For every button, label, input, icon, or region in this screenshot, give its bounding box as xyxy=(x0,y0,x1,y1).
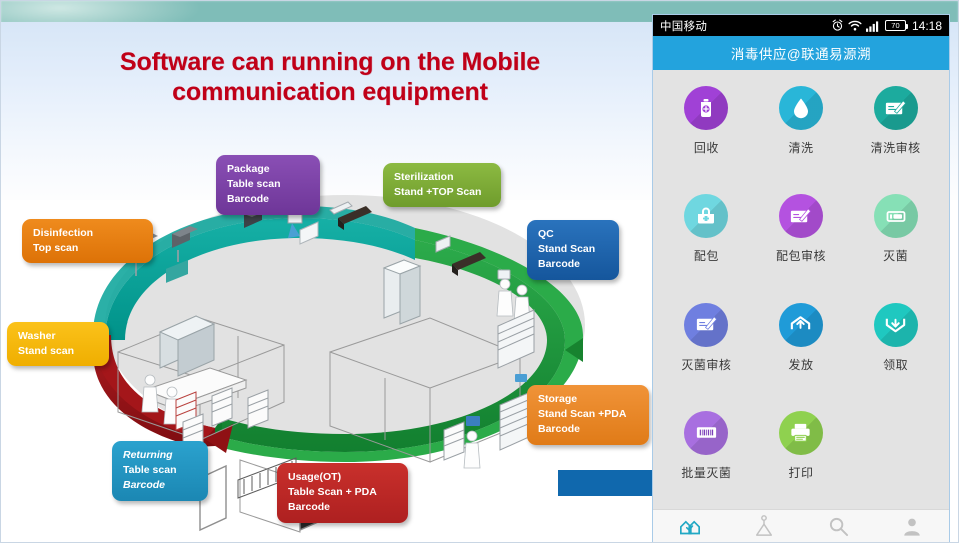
callout-washer-line-1: Stand scan xyxy=(18,344,98,359)
callout-usage-line-1: Table Scan + PDA xyxy=(288,485,397,500)
carrier-label: 中国移动 xyxy=(660,18,707,34)
tab-search[interactable] xyxy=(801,510,875,542)
app-icon-grid: 回收 清洗 xyxy=(653,70,949,511)
clipboard-pen-icon xyxy=(779,194,823,238)
clipboard-pen-icon xyxy=(874,86,918,130)
callout-returning-line-0: Returning xyxy=(123,448,197,463)
phone-status-bar: 中国移动 70 xyxy=(653,15,949,36)
funnel-icon xyxy=(754,515,774,537)
printer-icon xyxy=(779,411,823,455)
water-drop-icon xyxy=(779,86,823,130)
callout-returning-line-1: Table scan xyxy=(123,463,197,478)
wifi-icon xyxy=(848,20,862,32)
app-tile-sterilize-audit[interactable]: 灭菌审核 xyxy=(659,295,754,403)
callout-returning: Returning Table scan Barcode xyxy=(112,441,208,501)
app-tile-package[interactable]: 配包 xyxy=(659,186,754,294)
tab-funnel[interactable] xyxy=(727,510,801,542)
callout-disinfection-line-0: Disinfection xyxy=(33,226,142,241)
barcode-card-icon xyxy=(684,411,728,455)
clipboard-pen-icon xyxy=(684,303,728,347)
callout-package-line-0: Package xyxy=(227,162,309,177)
phone-tab-bar xyxy=(653,509,949,542)
app-label: 配包 xyxy=(694,247,719,264)
page-title: Software can running on the Mobile commu… xyxy=(20,48,640,107)
sterilizer-icon xyxy=(874,194,918,238)
callout-sterilization: Sterilization Stand +TOP Scan xyxy=(383,163,501,207)
callout-usage: Usage(OT) Table Scan + PDA Barcode xyxy=(277,463,408,523)
callout-qc-line-1: Stand Scan xyxy=(538,242,608,257)
app-label: 领取 xyxy=(883,356,908,373)
app-tile-wash-audit[interactable]: 清洗审核 xyxy=(848,78,943,186)
tab-home[interactable] xyxy=(653,510,727,542)
recycle-bin-icon xyxy=(684,86,728,130)
callout-washer-line-0: Washer xyxy=(18,329,98,344)
app-title: 消毒供应@联通易源溯 xyxy=(731,43,871,63)
callout-package-line-2: Barcode xyxy=(227,192,309,207)
app-tile-print[interactable]: 打印 xyxy=(754,403,849,511)
app-tile-batch-sterilize[interactable]: 批量灭菌 xyxy=(659,403,754,511)
callout-usage-line-2: Barcode xyxy=(288,500,397,515)
app-label: 灭菌 xyxy=(883,247,908,264)
app-tile-sterilize[interactable]: 灭菌 xyxy=(848,186,943,294)
title-line-2: communication equipment xyxy=(172,78,488,106)
callout-sterilization-line-1: Stand +TOP Scan xyxy=(394,185,490,200)
app-label: 打印 xyxy=(788,464,813,481)
status-clock: 14:18 xyxy=(912,19,942,33)
callout-storage-line-2: Barcode xyxy=(538,422,638,437)
app-tile-package-audit[interactable]: 配包审核 xyxy=(754,186,849,294)
app-tile-recycle[interactable]: 回收 xyxy=(659,78,754,186)
callout-package: Package Table scan Barcode xyxy=(216,155,320,215)
battery-icon: 70 xyxy=(885,20,906,31)
alarm-icon xyxy=(831,19,844,32)
callout-storage-line-1: Stand Scan +PDA xyxy=(538,407,638,422)
callout-package-line-1: Table scan xyxy=(227,177,309,192)
app-tile-dispatch[interactable]: 发放 xyxy=(754,295,849,403)
app-label: 清洗 xyxy=(788,139,813,156)
app-label: 发放 xyxy=(788,356,813,373)
app-label: 配包审核 xyxy=(776,247,826,264)
app-label: 回收 xyxy=(694,139,719,156)
app-label: 灭菌审核 xyxy=(681,356,731,373)
callout-washer: Washer Stand scan xyxy=(7,322,109,366)
callout-storage-line-0: Storage xyxy=(538,392,638,407)
autoclave xyxy=(384,260,420,324)
app-tile-wash[interactable]: 清洗 xyxy=(754,78,849,186)
signal-icon xyxy=(866,20,881,32)
home-icon xyxy=(679,516,701,536)
phone-screenshot: 中国移动 70 xyxy=(652,14,950,543)
app-label: 清洗审核 xyxy=(871,139,921,156)
app-tile-receive[interactable]: 领取 xyxy=(848,295,943,403)
battery-level: 70 xyxy=(891,22,899,30)
callout-qc: QC Stand Scan Barcode xyxy=(527,220,619,280)
callout-sterilization-line-0: Sterilization xyxy=(394,170,490,185)
person-icon xyxy=(902,516,922,537)
tab-profile[interactable] xyxy=(875,510,949,542)
status-icons: 70 14:18 xyxy=(831,19,942,33)
callout-returning-line-2: Barcode xyxy=(123,478,197,493)
inbox-arrow-icon xyxy=(874,303,918,347)
callout-storage: Storage Stand Scan +PDA Barcode xyxy=(527,385,649,445)
outbox-arrow-icon xyxy=(779,303,823,347)
search-icon xyxy=(828,516,849,537)
package-bag-icon xyxy=(684,194,728,238)
callout-disinfection-line-1: Top scan xyxy=(33,241,142,256)
app-label: 批量灭菌 xyxy=(681,464,731,481)
presentation-slide: Software can running on the Mobile commu… xyxy=(0,0,959,543)
callout-disinfection: Disinfection Top scan xyxy=(22,219,153,263)
title-line-1: Software can running on the Mobile xyxy=(120,48,540,76)
callout-qc-line-0: QC xyxy=(538,227,608,242)
app-title-bar: 消毒供应@联通易源溯 xyxy=(653,36,949,70)
callout-usage-line-0: Usage(OT) xyxy=(288,470,397,485)
callout-qc-line-2: Barcode xyxy=(538,257,608,272)
